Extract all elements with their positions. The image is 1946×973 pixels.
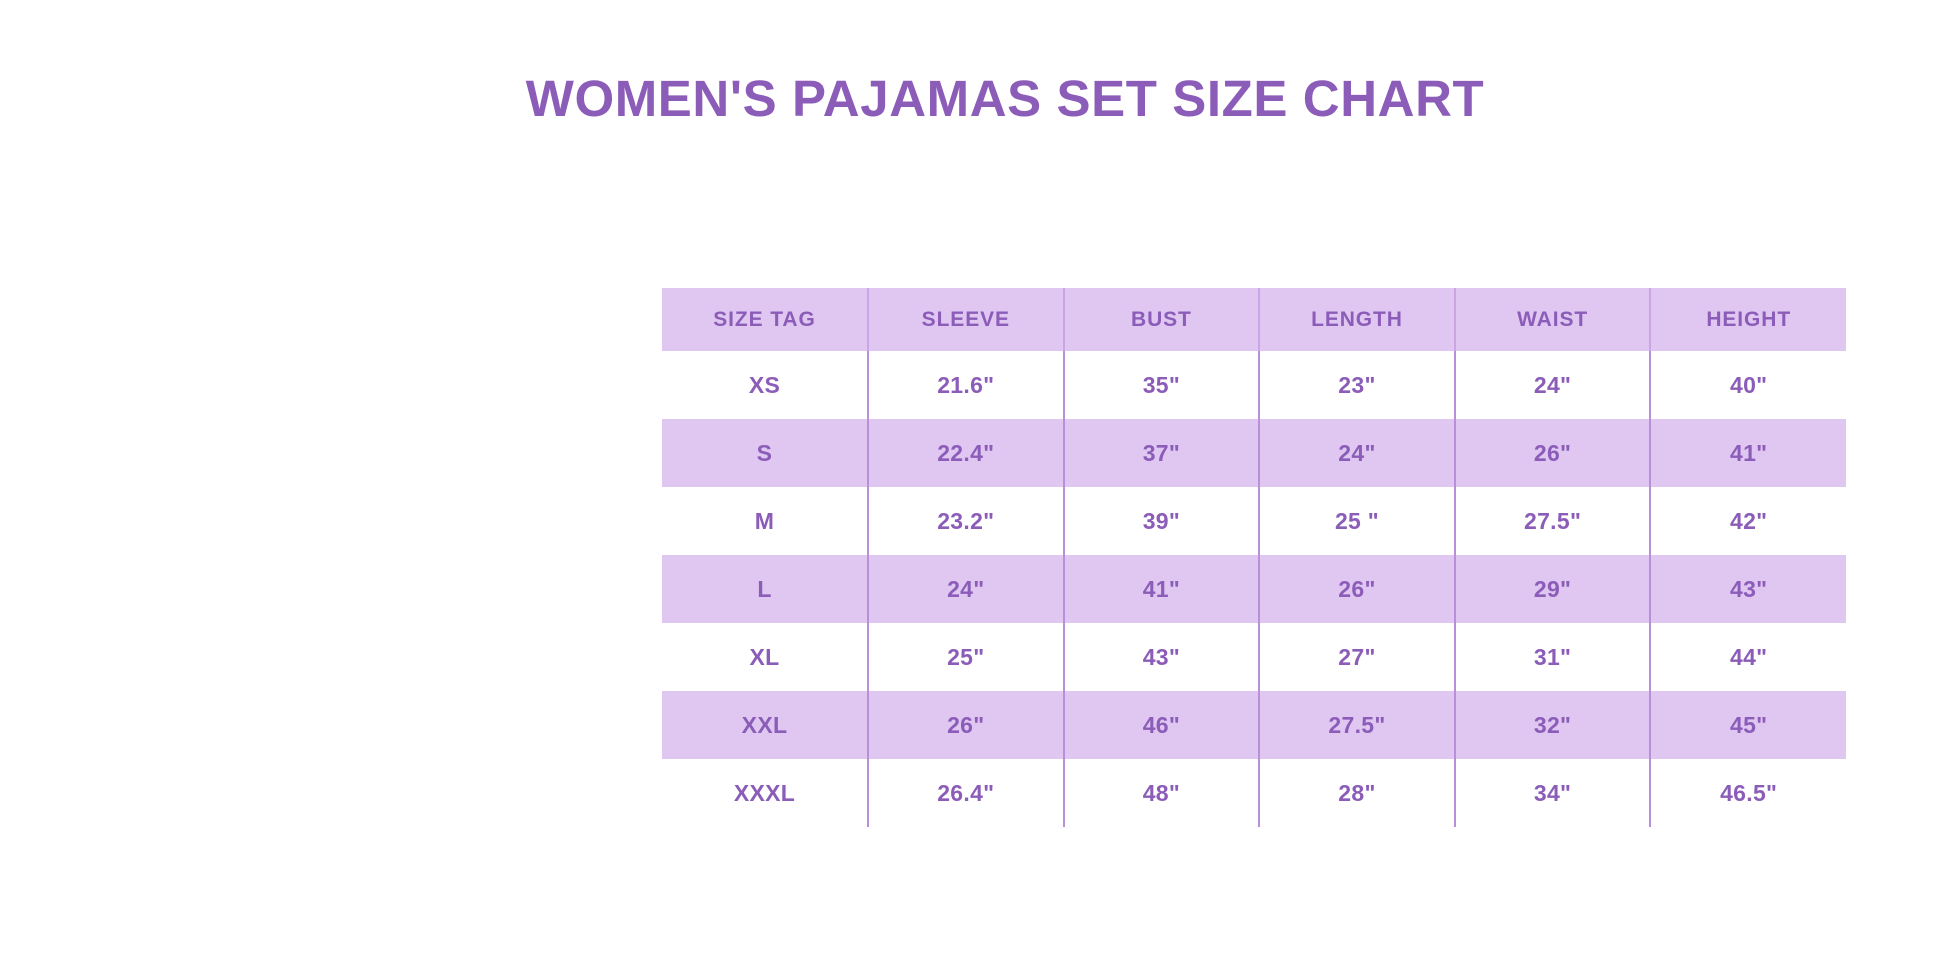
cell-value: 27": [1260, 644, 1454, 671]
cell-value: 35": [1065, 372, 1259, 399]
cell-height: 41": [1650, 419, 1846, 487]
cell-value: 41": [1651, 440, 1846, 467]
cell-value: 45": [1651, 712, 1846, 739]
cell-bust: 48": [1064, 759, 1260, 827]
column-header-length: LENGTH: [1259, 288, 1455, 351]
table-body: XS 21.6" 35" 23" 24" 40" S 22.4" 37" 24"…: [662, 351, 1846, 827]
column-header-label: SIZE TAG: [662, 308, 867, 332]
cell-value: 41": [1065, 576, 1259, 603]
cell-sleeve: 26": [868, 691, 1064, 759]
cell-value: 24": [1260, 440, 1454, 467]
cell-length: 23": [1259, 351, 1455, 419]
cell-value: 29": [1456, 576, 1650, 603]
cell-height: 46.5": [1650, 759, 1846, 827]
cell-value: 27.5": [1456, 508, 1650, 535]
cell-value: 21.6": [869, 372, 1063, 399]
table-row: XXXL 26.4" 48" 28" 34" 46.5": [662, 759, 1846, 827]
cell-length: 27": [1259, 623, 1455, 691]
cell-value: XL: [662, 644, 867, 671]
cell-value: 34": [1456, 780, 1650, 807]
cell-value: 26": [1456, 440, 1650, 467]
column-header-waist: WAIST: [1455, 288, 1651, 351]
table-header: SIZE TAG SLEEVE BUST LENGTH WAIST HEIGHT: [662, 288, 1846, 351]
cell-size-tag: XXL: [662, 691, 868, 759]
cell-bust: 43": [1064, 623, 1260, 691]
table-row: L 24" 41" 26" 29" 43": [662, 555, 1846, 623]
cell-value: 26.4": [869, 780, 1063, 807]
cell-height: 45": [1650, 691, 1846, 759]
cell-value: 23": [1260, 372, 1454, 399]
cell-size-tag: S: [662, 419, 868, 487]
cell-length: 27.5": [1259, 691, 1455, 759]
cell-height: 42": [1650, 487, 1846, 555]
table-row: XL 25" 43" 27" 31" 44": [662, 623, 1846, 691]
size-chart-table: SIZE TAG SLEEVE BUST LENGTH WAIST HEIGHT…: [662, 288, 1846, 827]
cell-height: 43": [1650, 555, 1846, 623]
cell-bust: 41": [1064, 555, 1260, 623]
cell-waist: 31": [1455, 623, 1651, 691]
table-row: M 23.2" 39" 25 " 27.5" 42": [662, 487, 1846, 555]
cell-value: 48": [1065, 780, 1259, 807]
cell-value: 40": [1651, 372, 1846, 399]
cell-value: 26": [869, 712, 1063, 739]
cell-size-tag: M: [662, 487, 868, 555]
cell-length: 25 ": [1259, 487, 1455, 555]
cell-sleeve: 26.4": [868, 759, 1064, 827]
size-chart-table-container: SIZE TAG SLEEVE BUST LENGTH WAIST HEIGHT…: [662, 288, 1846, 827]
cell-value: 28": [1260, 780, 1454, 807]
cell-length: 24": [1259, 419, 1455, 487]
column-header-bust: BUST: [1064, 288, 1260, 351]
cell-length: 28": [1259, 759, 1455, 827]
column-header-sleeve: SLEEVE: [868, 288, 1064, 351]
cell-sleeve: 23.2": [868, 487, 1064, 555]
cell-value: 43": [1651, 576, 1846, 603]
cell-height: 44": [1650, 623, 1846, 691]
cell-height: 40": [1650, 351, 1846, 419]
cell-waist: 27.5": [1455, 487, 1651, 555]
table-row: XXL 26" 46" 27.5" 32" 45": [662, 691, 1846, 759]
page-title: WOMEN'S PAJAMAS SET SIZE CHART: [0, 70, 1946, 127]
table-header-row: SIZE TAG SLEEVE BUST LENGTH WAIST HEIGHT: [662, 288, 1846, 351]
size-chart-page: WOMEN'S PAJAMAS SET SIZE CHART SIZE TAG …: [0, 0, 1946, 973]
column-header-label: WAIST: [1456, 308, 1650, 332]
cell-bust: 35": [1064, 351, 1260, 419]
cell-value: S: [662, 440, 867, 467]
cell-value: 32": [1456, 712, 1650, 739]
cell-value: 26": [1260, 576, 1454, 603]
cell-length: 26": [1259, 555, 1455, 623]
cell-bust: 37": [1064, 419, 1260, 487]
cell-sleeve: 25": [868, 623, 1064, 691]
cell-value: XXL: [662, 712, 867, 739]
column-header-label: BUST: [1065, 308, 1259, 332]
cell-value: 22.4": [869, 440, 1063, 467]
column-header-label: SLEEVE: [869, 308, 1063, 332]
cell-value: 25": [869, 644, 1063, 671]
cell-value: 24": [1456, 372, 1650, 399]
cell-waist: 34": [1455, 759, 1651, 827]
cell-sleeve: 24": [868, 555, 1064, 623]
cell-waist: 24": [1455, 351, 1651, 419]
cell-size-tag: XS: [662, 351, 868, 419]
cell-value: 31": [1456, 644, 1650, 671]
cell-value: 25 ": [1260, 508, 1454, 535]
cell-bust: 39": [1064, 487, 1260, 555]
cell-value: XXXL: [662, 780, 867, 807]
cell-waist: 26": [1455, 419, 1651, 487]
cell-value: 27.5": [1260, 712, 1454, 739]
cell-waist: 32": [1455, 691, 1651, 759]
cell-value: XS: [662, 372, 867, 399]
cell-value: 46": [1065, 712, 1259, 739]
column-header-label: HEIGHT: [1651, 308, 1846, 332]
cell-value: L: [662, 576, 867, 603]
column-header-height: HEIGHT: [1650, 288, 1846, 351]
cell-value: 44": [1651, 644, 1846, 671]
cell-value: 37": [1065, 440, 1259, 467]
cell-value: M: [662, 508, 867, 535]
cell-value: 39": [1065, 508, 1259, 535]
cell-value: 24": [869, 576, 1063, 603]
cell-value: 23.2": [869, 508, 1063, 535]
table-row: S 22.4" 37" 24" 26" 41": [662, 419, 1846, 487]
column-header-label: LENGTH: [1260, 308, 1454, 332]
cell-bust: 46": [1064, 691, 1260, 759]
cell-size-tag: XXXL: [662, 759, 868, 827]
cell-value: 43": [1065, 644, 1259, 671]
cell-size-tag: L: [662, 555, 868, 623]
cell-value: 46.5": [1651, 780, 1846, 807]
cell-waist: 29": [1455, 555, 1651, 623]
cell-sleeve: 21.6": [868, 351, 1064, 419]
column-header-size-tag: SIZE TAG: [662, 288, 868, 351]
cell-size-tag: XL: [662, 623, 868, 691]
cell-value: 42": [1651, 508, 1846, 535]
table-row: XS 21.6" 35" 23" 24" 40": [662, 351, 1846, 419]
cell-sleeve: 22.4": [868, 419, 1064, 487]
